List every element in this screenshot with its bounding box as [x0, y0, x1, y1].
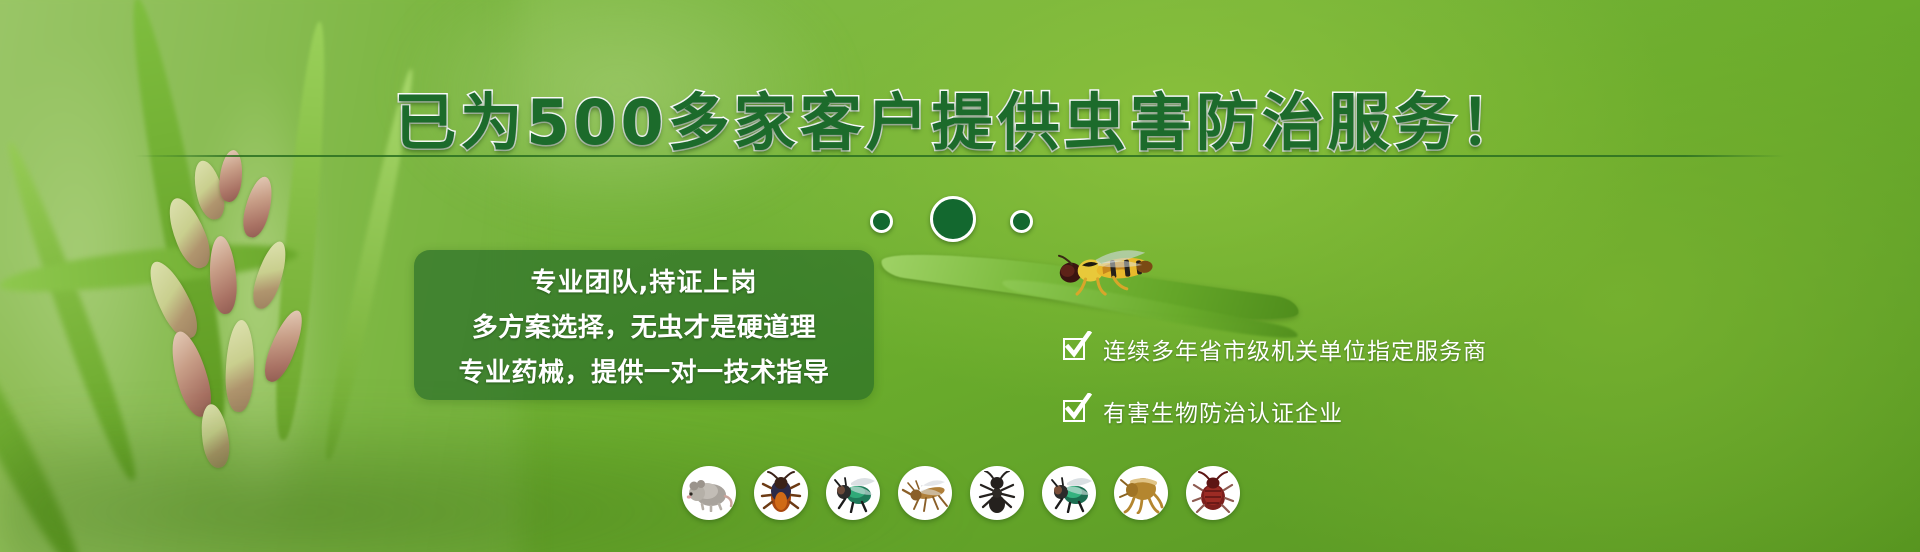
headline-text: 已为500多家客户提供虫害防治服务！	[394, 86, 1525, 159]
selling-points-card: 专业团队,持证上岗 多方案选择，无虫才是硬道理 专业药械，提供一对一技术指导	[414, 250, 874, 400]
selling-point-line-1: 专业团队,持证上岗	[531, 262, 758, 299]
credential-bullets: 连续多年省市级机关单位指定服务商 有害生物防治认证企业	[1063, 332, 1487, 428]
check-box-icon	[1063, 398, 1089, 424]
dot-small-left-icon	[870, 210, 893, 233]
page-title: 已为500多家客户提供虫害防治服务！	[0, 72, 1920, 162]
mosquito-icon[interactable]	[898, 466, 952, 520]
ant-icon[interactable]	[970, 466, 1024, 520]
selling-point-line-2: 多方案选择，无虫才是硬道理	[472, 307, 817, 344]
dot-small-right-icon	[1010, 210, 1033, 233]
credential-bullet-2-text: 有害生物防治认证企业	[1103, 394, 1343, 428]
pest-icon-row	[682, 466, 1240, 520]
credential-bullet-1: 连续多年省市级机关单位指定服务商	[1063, 332, 1487, 366]
flea-icon[interactable]	[1114, 466, 1168, 520]
bedbug-icon[interactable]	[1186, 466, 1240, 520]
credential-bullet-2: 有害生物防治认证企业	[1063, 394, 1487, 428]
credential-bullet-1-text: 连续多年省市级机关单位指定服务商	[1103, 332, 1487, 366]
greenbottle-fly-icon[interactable]	[1042, 466, 1096, 520]
pest-control-hero-banner: 已为500多家客户提供虫害防治服务！ 专业团队,持证上岗 多方案选择，无虫才是硬…	[0, 0, 1920, 552]
headline-divider	[135, 155, 1785, 157]
check-box-icon	[1063, 336, 1089, 362]
selling-point-line-3: 专业药械，提供一对一技术指导	[458, 352, 829, 389]
decorative-dots	[860, 196, 1060, 240]
housefly-icon[interactable]	[826, 466, 880, 520]
rat-icon[interactable]	[682, 466, 736, 520]
dot-large-center-icon	[930, 196, 976, 242]
cockroach-icon[interactable]	[754, 466, 808, 520]
